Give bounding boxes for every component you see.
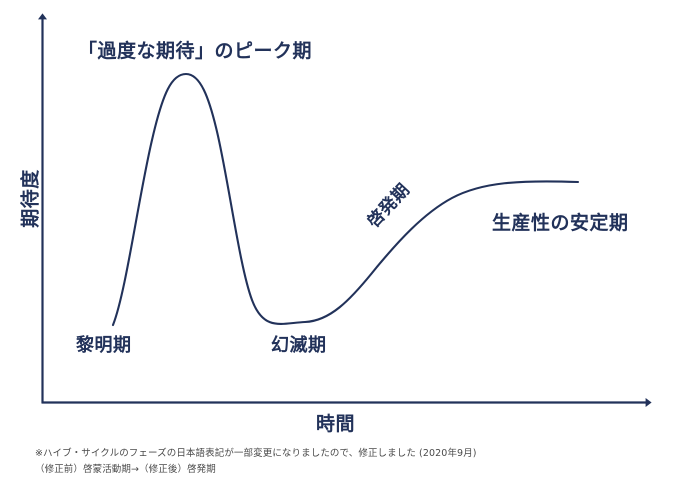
footnote-block: ※ハイブ・サイクルのフェーズの日本語表記が一部変更になりましたので、修正しました… — [35, 446, 477, 478]
hype-cycle-curve — [113, 74, 578, 325]
plateau-of-productivity-label: 生産性の安定期 — [492, 208, 629, 235]
hype-cycle-diagram: 「過度な期待」のピーク期 黎明期 幻滅期 啓発期 生産性の安定期 期待度 時間 … — [0, 0, 685, 487]
footnote-line-2: （修正前）啓蒙活動期→（修正後）啓発期 — [35, 462, 477, 478]
innovation-trigger-label: 黎明期 — [76, 331, 132, 357]
footnote-line-1: ※ハイブ・サイクルのフェーズの日本語表記が一部変更になりましたので、修正しました… — [35, 446, 477, 462]
trough-of-disillusionment-label: 幻滅期 — [271, 331, 327, 357]
peak-of-inflated-expectations-label: 「過度な期待」のピーク期 — [78, 36, 312, 63]
x-axis-title: 時間 — [316, 409, 355, 436]
y-axis-title: 期待度 — [16, 161, 43, 237]
